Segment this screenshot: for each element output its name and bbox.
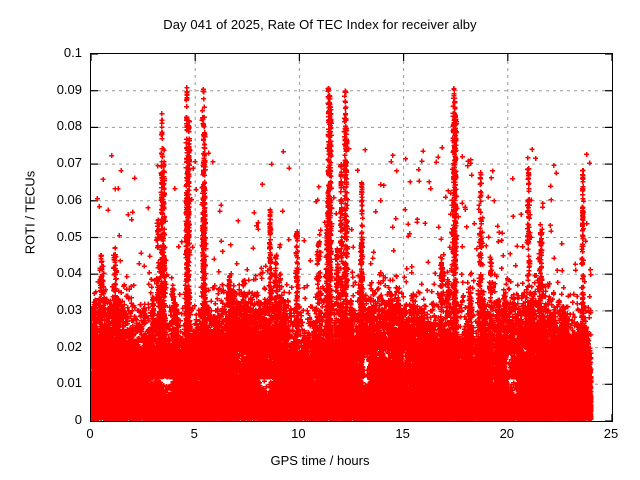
scatter-data-layer — [91, 54, 612, 421]
x-tick-label: 10 — [268, 427, 328, 440]
x-tick-label: 15 — [373, 427, 433, 440]
x-tick-label: 25 — [581, 427, 640, 440]
y-tick-label: 0.01 — [18, 376, 82, 389]
chart-figure: Day 041 of 2025, Rate Of TEC Index for r… — [0, 0, 640, 480]
x-tick-label: 5 — [164, 427, 224, 440]
y-tick-label: 0.1 — [18, 46, 82, 59]
y-tick-label: 0.03 — [18, 303, 82, 316]
x-axis-tick-labels: 0510152025 — [90, 427, 611, 447]
x-tick-label: 0 — [60, 427, 120, 440]
y-tick-label: 0.08 — [18, 119, 82, 132]
y-tick-label: 0.09 — [18, 83, 82, 96]
y-tick-label: 0 — [18, 413, 82, 426]
x-tick-label: 20 — [477, 427, 537, 440]
y-tick-label: 0.02 — [18, 340, 82, 353]
y-tick-label: 0.07 — [18, 156, 82, 169]
y-axis-tick-labels: 00.010.020.030.040.050.060.070.080.090.1 — [18, 53, 82, 420]
plot-area — [90, 53, 613, 422]
y-tick-label: 0.05 — [18, 230, 82, 243]
chart-title: Day 041 of 2025, Rate Of TEC Index for r… — [0, 17, 640, 32]
x-axis-title: GPS time / hours — [0, 453, 640, 468]
y-tick-label: 0.06 — [18, 193, 82, 206]
y-tick-label: 0.04 — [18, 266, 82, 279]
